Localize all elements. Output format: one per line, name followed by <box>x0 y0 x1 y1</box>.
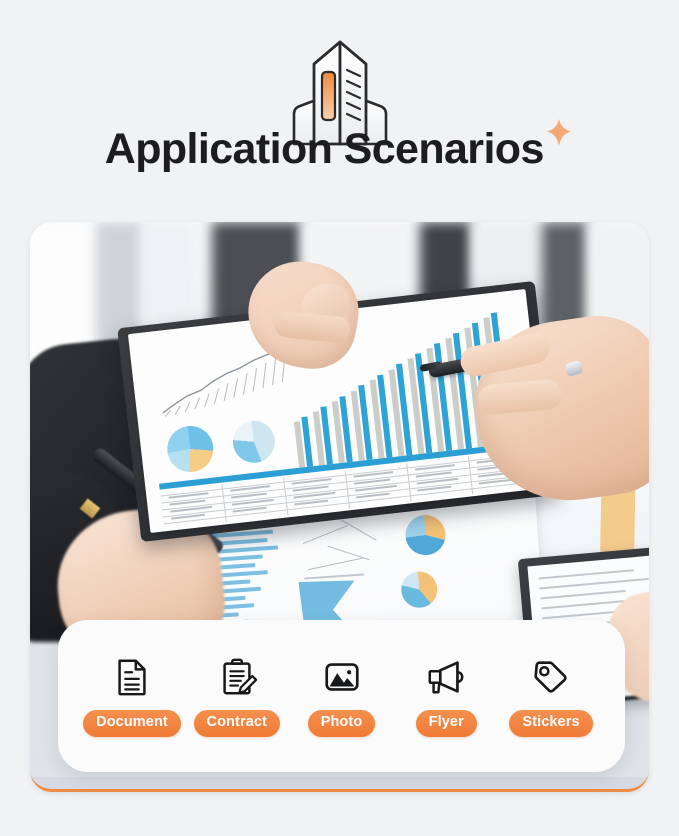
category-label-photo: Photo <box>308 710 376 737</box>
category-label-contract: Contract <box>194 710 280 737</box>
header: Application Scenarios <box>0 0 679 212</box>
contract-clipboard-pencil-icon <box>215 655 259 699</box>
megaphone-icon <box>424 655 468 699</box>
category-item-stickers[interactable]: Stickers <box>499 655 603 737</box>
doc-pie-chart <box>404 514 447 557</box>
page-root: Application Scenarios <box>0 0 679 836</box>
category-item-contract[interactable]: Contract <box>185 655 289 737</box>
price-tag-icon <box>529 655 573 699</box>
sparkle-icon <box>544 118 574 148</box>
category-label-document: Document <box>83 710 181 737</box>
category-label-stickers: Stickers <box>509 710 592 737</box>
title-row: Application Scenarios <box>0 128 679 171</box>
report-pie-chart <box>231 418 277 464</box>
category-card: Document Contract <box>58 620 625 772</box>
category-label-flyer: Flyer <box>416 710 477 737</box>
document-icon <box>110 655 154 699</box>
category-item-photo[interactable]: Photo <box>290 655 394 737</box>
category-item-document[interactable]: Document <box>80 655 184 737</box>
page-title: Application Scenarios <box>105 128 544 171</box>
photo-image-icon <box>320 655 364 699</box>
doc-pie-chart <box>400 570 438 608</box>
report-pie-chart <box>165 424 216 475</box>
category-item-flyer[interactable]: Flyer <box>394 655 498 737</box>
